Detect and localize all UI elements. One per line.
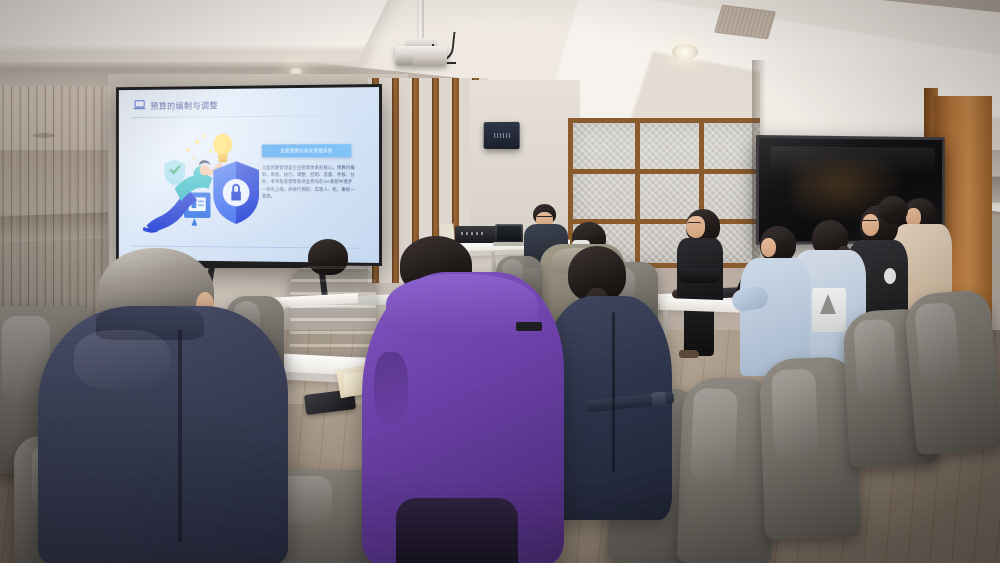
laptop-base bbox=[493, 242, 526, 246]
slide-illustration bbox=[143, 128, 262, 238]
attendee-denim-face bbox=[761, 238, 776, 257]
presenter-glasses-icon bbox=[687, 222, 701, 228]
attendee-grayhair-shoulder-hl bbox=[74, 330, 170, 390]
partition-rail bbox=[573, 169, 761, 174]
projector-lens-icon bbox=[397, 52, 413, 65]
attendee-purple-sleeve-fold bbox=[374, 352, 408, 424]
attendee-purple-seat-dark bbox=[396, 498, 518, 563]
slide-badge: 全面预算信息化管理系统 bbox=[262, 144, 351, 157]
projection-screen: 预算的编制与调整 bbox=[116, 84, 382, 266]
partition-rail bbox=[573, 219, 761, 224]
conference-chair[interactable] bbox=[903, 289, 1000, 456]
chair-highlight bbox=[691, 388, 737, 482]
laptop-icon bbox=[134, 100, 146, 111]
presenter-shoe bbox=[679, 350, 699, 358]
slide-title: 预算的编制与调整 bbox=[150, 100, 218, 112]
projected-slide: 预算的编制与调整 bbox=[119, 87, 379, 263]
slide-body-text: 全面预算管理是企业管理体系的核心，预算的编制、审批、执行、调整、控制、监督、考核… bbox=[262, 164, 355, 200]
attendee-backrow-head bbox=[878, 196, 908, 224]
partition-mullion bbox=[635, 123, 640, 263]
downlight-icon bbox=[672, 44, 698, 60]
laptop-screen bbox=[497, 226, 521, 241]
attendee-blacktop-glasses-icon bbox=[862, 220, 877, 226]
attendee-blacktop-print bbox=[884, 268, 896, 284]
attendee-purple-hood bbox=[386, 274, 538, 340]
meeting-room-scene: 预算的编制与调整 bbox=[0, 0, 1000, 563]
slide-title-divider bbox=[132, 115, 367, 118]
tv-glare bbox=[770, 146, 935, 176]
attendee-purple-brand-label bbox=[516, 322, 542, 331]
attendee-trench-seam bbox=[612, 312, 615, 472]
slide-badge-label: 全面预算信息化管理系统 bbox=[262, 144, 351, 157]
presenter-arm-crossed bbox=[678, 268, 720, 283]
av-operator-glasses-icon bbox=[537, 216, 552, 221]
attendee-grayhair-back-seam bbox=[178, 330, 182, 542]
wall-speaker bbox=[484, 122, 520, 149]
wood-fin bbox=[392, 78, 399, 283]
ceiling-cove-shadow bbox=[0, 48, 374, 66]
chair-highlight bbox=[914, 301, 960, 384]
av-rack-lights bbox=[461, 232, 483, 235]
puffer-vest-body bbox=[290, 266, 376, 358]
chair-highlight bbox=[771, 369, 818, 460]
attendee-trench-belt-buckle bbox=[651, 391, 666, 407]
speaker-grill-icon bbox=[494, 133, 510, 138]
chair-highlight bbox=[853, 319, 897, 399]
